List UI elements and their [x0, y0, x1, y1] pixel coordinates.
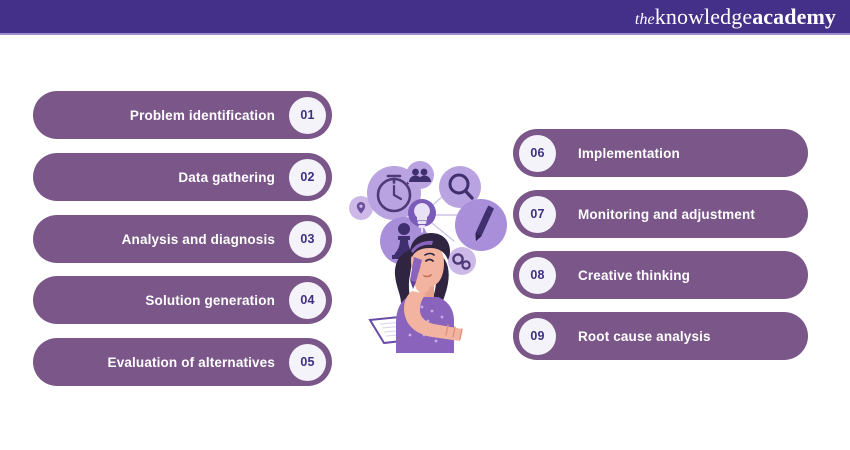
- step-item-04[interactable]: Solution generation 04: [33, 276, 332, 324]
- logo-academy: academy: [752, 4, 836, 29]
- step-number-badge: 09: [519, 318, 556, 355]
- page-header: theknowledgeacademy: [0, 0, 850, 33]
- step-item-05[interactable]: Evaluation of alternatives 05: [33, 338, 332, 386]
- step-item-07[interactable]: 07 Monitoring and adjustment: [513, 190, 808, 238]
- step-item-09[interactable]: 09 Root cause analysis: [513, 312, 808, 360]
- logo-knowledge: knowledge: [655, 4, 752, 29]
- step-number-badge: 06: [519, 135, 556, 172]
- step-label: Solution generation: [145, 293, 275, 308]
- step-number-badge: 01: [289, 97, 326, 134]
- step-label: Monitoring and adjustment: [578, 207, 755, 222]
- step-label: Evaluation of alternatives: [108, 355, 275, 370]
- step-number-badge: 03: [289, 221, 326, 258]
- logo-the: the: [635, 11, 655, 28]
- step-number-badge: 04: [289, 282, 326, 319]
- step-label: Problem identification: [130, 108, 275, 123]
- step-item-08[interactable]: 08 Creative thinking: [513, 251, 808, 299]
- step-number-badge: 02: [289, 159, 326, 196]
- woman-thinking-with-idea-bubbles-illustration: [342, 153, 517, 353]
- step-number-badge: 08: [519, 257, 556, 294]
- step-number-badge: 07: [519, 196, 556, 233]
- step-item-02[interactable]: Data gathering 02: [33, 153, 332, 201]
- people-icon: [406, 161, 434, 189]
- step-label: Creative thinking: [578, 268, 690, 283]
- step-label: Analysis and diagnosis: [122, 232, 275, 247]
- step-label: Implementation: [578, 146, 680, 161]
- step-item-03[interactable]: Analysis and diagnosis 03: [33, 215, 332, 263]
- step-label: Root cause analysis: [578, 329, 711, 344]
- step-number-badge: 05: [289, 344, 326, 381]
- step-item-01[interactable]: Problem identification 01: [33, 91, 332, 139]
- diagram-stage: Problem identification 01 Data gathering…: [0, 35, 850, 450]
- step-item-06[interactable]: 06 Implementation: [513, 129, 808, 177]
- the-knowledge-academy-logo: theknowledgeacademy: [635, 6, 836, 28]
- step-label: Data gathering: [178, 170, 275, 185]
